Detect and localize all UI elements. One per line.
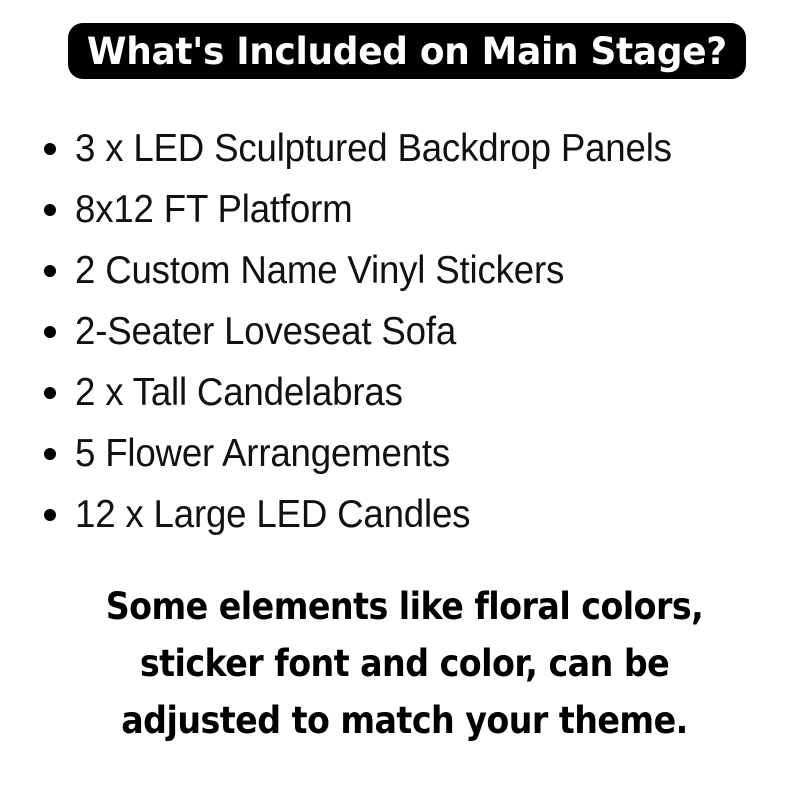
- footer-note-line: Some elements like floral colors,: [40, 578, 768, 635]
- bullet-dot-icon: [44, 387, 56, 399]
- included-items-list: 3 x LED Sculptured Backdrop Panels 8x12 …: [36, 118, 796, 545]
- list-item-label: 2 x Tall Candelabras: [75, 362, 403, 423]
- list-item-label: 2 Custom Name Vinyl Stickers: [75, 240, 564, 301]
- page-title: What's Included on Main Stage?: [87, 33, 727, 70]
- list-item: 5 Flower Arrangements: [36, 423, 796, 484]
- list-item: 2 Custom Name Vinyl Stickers: [36, 240, 796, 301]
- list-item: 2 x Tall Candelabras: [36, 362, 796, 423]
- bullet-dot-icon: [44, 143, 56, 155]
- footer-note: Some elements like floral colors, sticke…: [0, 578, 809, 749]
- list-item: 3 x LED Sculptured Backdrop Panels: [36, 118, 796, 179]
- list-item-label: 2-Seater Loveseat Sofa: [75, 301, 456, 362]
- header-banner: What's Included on Main Stage?: [68, 23, 746, 79]
- list-item-label: 5 Flower Arrangements: [75, 423, 450, 484]
- list-item: 2-Seater Loveseat Sofa: [36, 301, 796, 362]
- footer-note-line: sticker font and color, can be: [40, 635, 768, 692]
- list-item-label: 8x12 FT Platform: [75, 179, 352, 240]
- list-item-label: 12 x Large LED Candles: [75, 484, 470, 545]
- bullet-dot-icon: [44, 509, 56, 521]
- list-item: 12 x Large LED Candles: [36, 484, 796, 545]
- footer-note-line: adjusted to match your theme.: [40, 692, 768, 749]
- included-poster: What's Included on Main Stage? 3 x LED S…: [0, 0, 809, 809]
- list-item: 8x12 FT Platform: [36, 179, 796, 240]
- bullet-dot-icon: [44, 448, 56, 460]
- list-item-label: 3 x LED Sculptured Backdrop Panels: [75, 118, 672, 179]
- bullet-dot-icon: [44, 265, 56, 277]
- bullet-dot-icon: [44, 326, 56, 338]
- bullet-dot-icon: [44, 204, 56, 216]
